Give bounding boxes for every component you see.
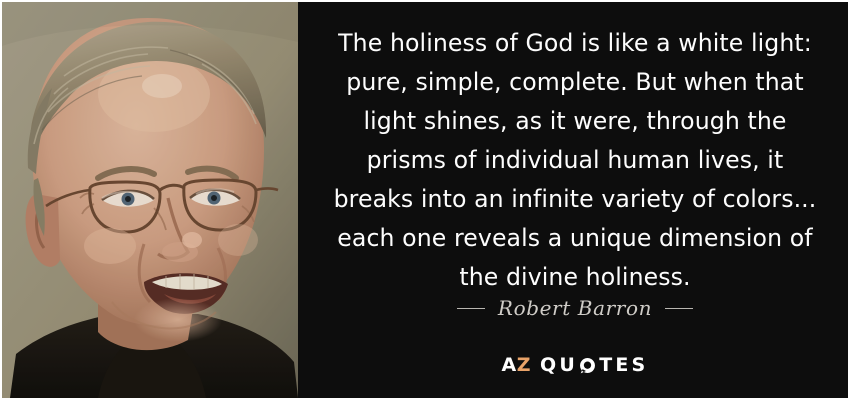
logo-letter-z: Z (517, 354, 531, 376)
quote-card: The holiness of God is like a white ligh… (0, 0, 850, 400)
logo-az-mark: AZ (502, 356, 532, 375)
author-name: Robert Barron (498, 296, 652, 320)
speech-bubble-glyph (579, 357, 596, 374)
attribution-dash-left (457, 308, 485, 309)
attribution: Robert Barron (326, 296, 824, 320)
speech-bubble-icon (579, 357, 596, 374)
author-portrait-photo (2, 2, 298, 398)
logo-quotes-prefix: QU (540, 356, 578, 375)
quote-content-area: The holiness of God is like a white ligh… (302, 2, 848, 398)
attribution-dash-right (665, 308, 693, 309)
azquotes-logo[interactable]: AZ QU TES (326, 356, 824, 375)
logo-quotes-suffix: TES (599, 356, 648, 375)
logo-quotes-wordmark: QU TES (540, 356, 648, 375)
logo-letter-a: A (502, 354, 517, 376)
portrait-illustration (2, 2, 298, 398)
quote-text: The holiness of God is like a white ligh… (326, 24, 824, 297)
